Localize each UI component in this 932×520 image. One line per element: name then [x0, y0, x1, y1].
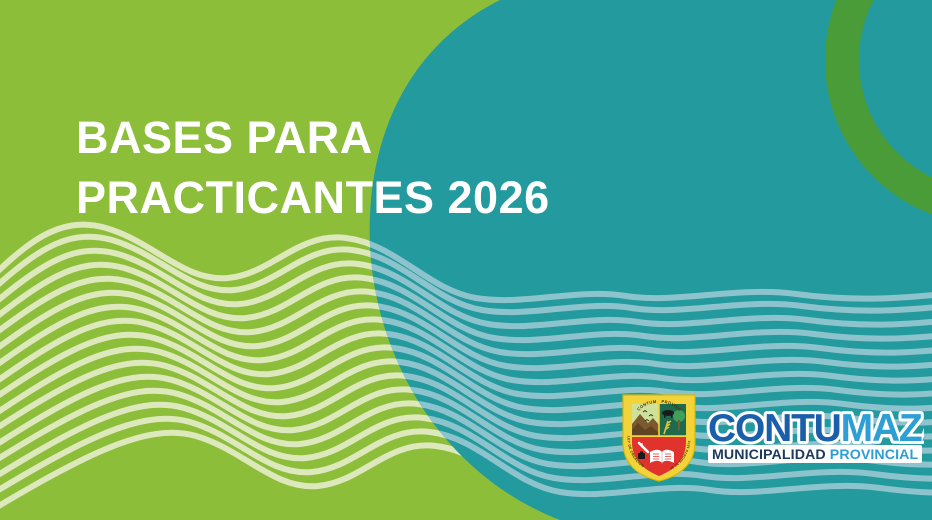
shield-top-left-label: CONTUMAZÁ [700, 390, 701, 391]
shield-svg: CONTUMAZÁ PROVINCIA LEY DE CREACION 20 D… [618, 390, 700, 482]
subtitle-part2: PROVINCIAL [830, 447, 919, 463]
quadrant-divider-horizontal [632, 435, 686, 437]
quadrant-divider-vertical [658, 404, 660, 436]
wordmark-part1: CONTUMAZÁ [708, 406, 924, 450]
contumaza-municipality-logo: CONTUMAZÁ PROVINCIA LEY DE CREACION 20 D… [618, 390, 924, 482]
subtitle-full-text: MUNICIPALIDAD PROVINCIAL [706, 467, 707, 468]
contumaza-coat-of-arms-icon: CONTUMAZÁ PROVINCIA LEY DE CREACION 20 D… [618, 390, 700, 482]
slide-canvas: BASES PARA PRACTICANTES 2026 [0, 0, 932, 520]
wordmark-full-text: CONTUMAZÁ [706, 467, 707, 468]
subtitle-part1: MUNICIPALIDAD PROVINCIAL [712, 447, 919, 463]
tree-trunk-icon [678, 420, 680, 430]
wordmark-part2: MAZÁ [841, 406, 924, 450]
shield-top-right-label: PROVINCIA [700, 390, 701, 391]
contumaza-wordmark: CONTUMAZÁ CONTUMAZÁ MUNICIPALIDAD PROVIN… [706, 401, 924, 471]
wordmark-svg: CONTUMAZÁ CONTUMAZÁ MUNICIPALIDAD PROVIN… [706, 401, 924, 467]
